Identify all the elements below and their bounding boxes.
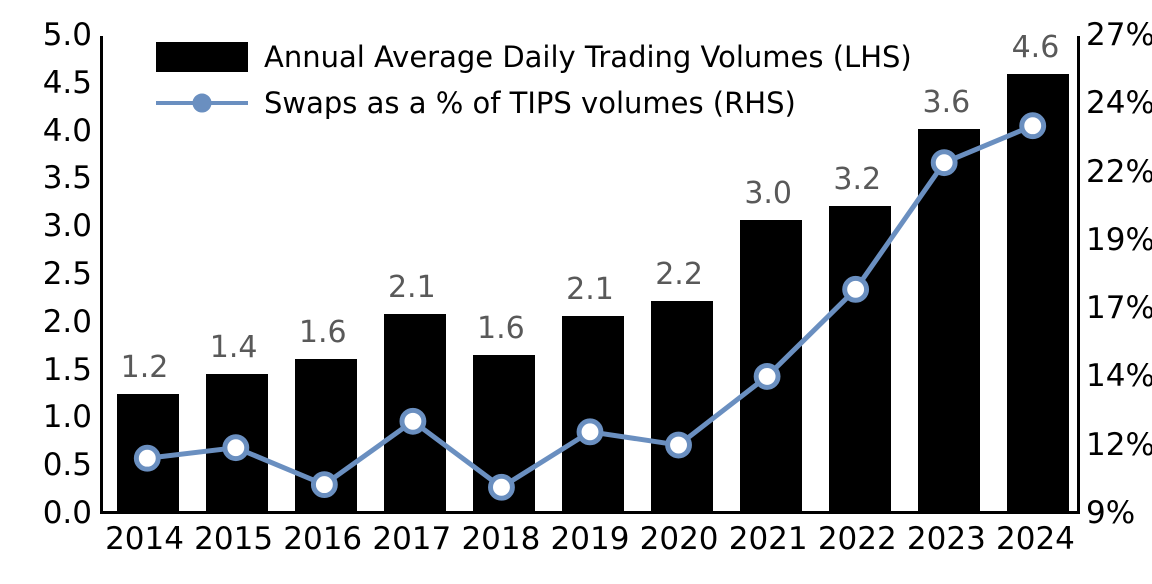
- left-axis-tick: 3.0: [43, 211, 92, 242]
- bar-value-label: 1.6: [263, 318, 383, 348]
- left-axis-tick: 3.5: [43, 163, 92, 194]
- bar: [740, 220, 802, 511]
- bar-value-label: 3.2: [797, 165, 917, 195]
- legend-item-bars: Annual Average Daily Trading Volumes (LH…: [152, 34, 912, 80]
- bar-value-label: 4.6: [975, 33, 1095, 63]
- left-axis-tick: 1.0: [43, 402, 92, 433]
- left-axis-tick: 0.5: [43, 450, 92, 481]
- right-axis-tick: 27%: [1086, 20, 1152, 51]
- bar: [1007, 74, 1069, 511]
- left-axis-tick: 0.0: [43, 498, 92, 529]
- bar: [918, 129, 980, 511]
- bar: [473, 355, 535, 511]
- bar: [829, 206, 891, 511]
- legend-line-swatch: [152, 88, 252, 118]
- legend-label-line: Swaps as a % of TIPS volumes (RHS): [264, 86, 796, 120]
- bar-value-label: 2.2: [619, 260, 739, 290]
- left-axis-tick: 2.0: [43, 307, 92, 338]
- bar: [117, 394, 179, 511]
- left-axis-tick: 4.0: [43, 116, 92, 147]
- bar: [384, 314, 446, 511]
- right-axis-tick: 24%: [1086, 88, 1152, 119]
- bar: [206, 374, 268, 511]
- right-axis-tick: 19%: [1086, 225, 1152, 256]
- legend-line-icon: [152, 88, 252, 118]
- bar-value-label: 2.1: [352, 273, 472, 303]
- bar-value-label: 3.6: [886, 88, 1006, 118]
- left-axis-tick: 4.5: [43, 68, 92, 99]
- bar: [651, 301, 713, 511]
- right-axis-tick: 22%: [1086, 157, 1152, 188]
- left-axis-tick: 5.0: [43, 20, 92, 51]
- x-axis-tick: 2024: [965, 524, 1105, 555]
- right-axis-tick: 12%: [1086, 430, 1152, 461]
- right-axis-tick: 9%: [1086, 498, 1135, 529]
- chart-legend: Annual Average Daily Trading Volumes (LH…: [152, 34, 912, 126]
- right-axis-tick: 17%: [1086, 293, 1152, 324]
- legend-label-bars: Annual Average Daily Trading Volumes (LH…: [264, 40, 912, 74]
- chart-container: 2014201520162017201820192020202120222023…: [0, 0, 1152, 584]
- left-axis-tick: 2.5: [43, 259, 92, 290]
- bar-value-label: 1.6: [441, 314, 561, 344]
- bar: [295, 359, 357, 511]
- bar: [562, 316, 624, 511]
- right-axis-tick: 14%: [1086, 361, 1152, 392]
- legend-item-line: Swaps as a % of TIPS volumes (RHS): [152, 80, 912, 126]
- legend-bar-swatch: [152, 42, 252, 72]
